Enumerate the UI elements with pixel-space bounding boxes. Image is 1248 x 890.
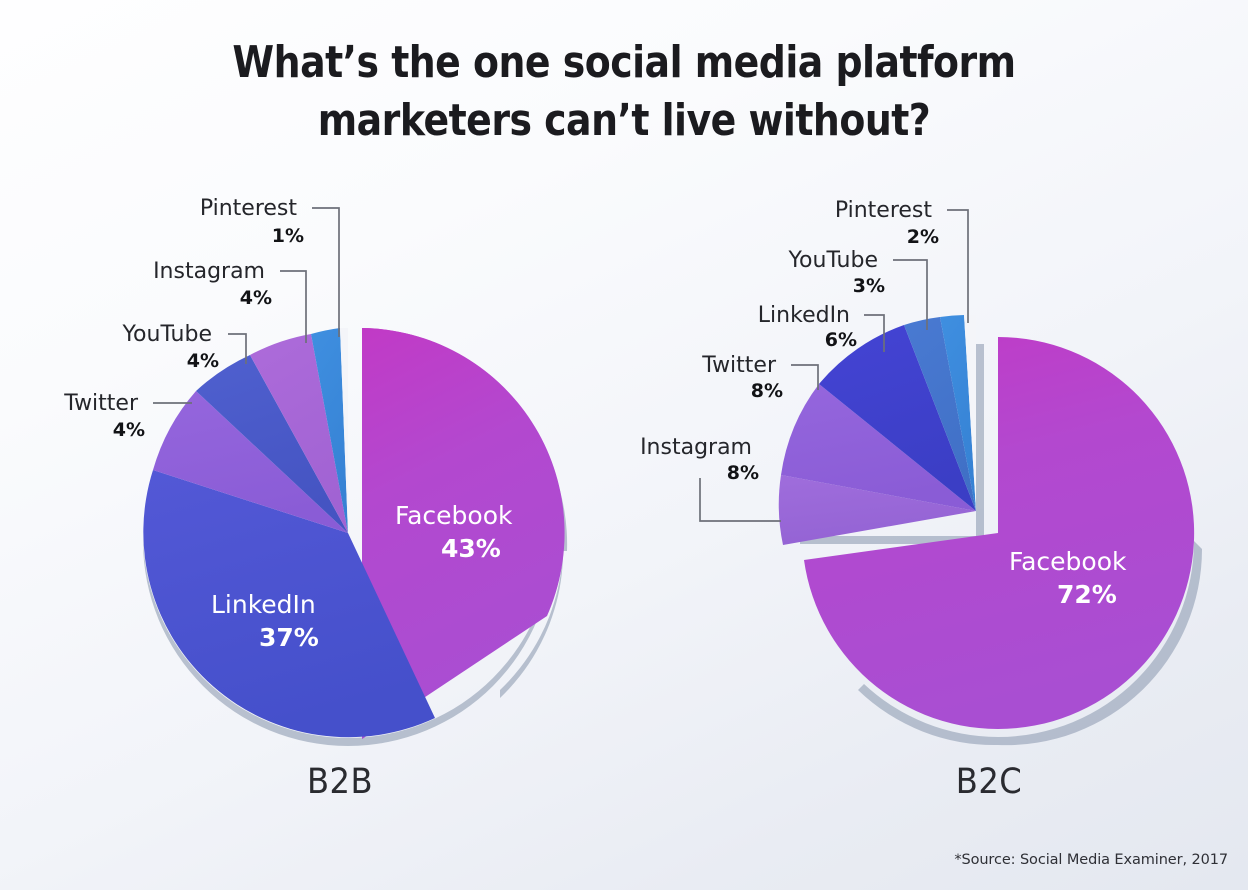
b2c-inner-label-facebook-name: Facebook [1009, 547, 1127, 576]
b2c-slice-gap [964, 315, 976, 511]
b2c-callout-youtube: YouTube 3% [788, 248, 927, 330]
b2b-slice-twitter[interactable] [153, 391, 348, 533]
b2c-callout-linkedin-name: LinkedIn [758, 303, 850, 328]
b2b-pie-shadow [143, 333, 567, 748]
panel-caption-b2c: B2C [894, 762, 1084, 802]
b2c-callout-youtube-pct: 3% [853, 275, 885, 297]
b2b-callout-twitter: Twitter 4% [63, 391, 192, 441]
b2c-leader-twitter [791, 365, 818, 390]
b2c-leader-instagram [700, 478, 781, 521]
b2b-callout-instagram-name: Instagram [153, 259, 265, 284]
b2c-callout-twitter-pct: 8% [751, 380, 783, 402]
b2b-slice-facebook[interactable] [362, 328, 565, 739]
b2c-callout-instagram: Instagram 8% [640, 435, 781, 521]
b2c-slice-linkedin[interactable] [819, 325, 976, 511]
b2c-callout-youtube-name: YouTube [788, 248, 878, 273]
b2c-slice-youtube[interactable] [904, 317, 976, 511]
b2b-callout-youtube-pct: 4% [187, 350, 219, 372]
b2c-slice-facebook[interactable] [804, 337, 1194, 729]
b2c-inner-label-facebook-pct: 72% [1057, 580, 1117, 609]
b2b-leader-instagram [280, 271, 306, 343]
b2c-slice-instagram[interactable] [779, 475, 976, 545]
b2c-leader-pinterest [947, 210, 968, 323]
b2c-callout-instagram-pct: 8% [727, 462, 759, 484]
b2b-slice-gap [340, 328, 348, 533]
b2c-pie-shadow [800, 344, 1202, 745]
b2b-callout-instagram: Instagram 4% [153, 259, 306, 343]
b2b-callout-youtube-name: YouTube [122, 322, 212, 347]
b2c-callout-instagram-name: Instagram [640, 435, 752, 460]
b2c-slice-twitter[interactable] [781, 384, 976, 511]
b2b-callout-pinterest-name: Pinterest [200, 196, 298, 221]
infographic-canvas: What’s the one social media platform mar… [0, 0, 1248, 890]
b2c-pie: Facebook 72% Pinterest 2% YouTube 3% Lin… [640, 198, 1202, 745]
b2b-inner-label-facebook-pct: 43% [441, 534, 501, 563]
page-title: What’s the one social media platform mar… [87, 34, 1160, 150]
b2b-pie: Facebook 43% LinkedIn 37% Pinterest 1% I… [63, 196, 567, 748]
b2c-callout-twitter: Twitter 8% [701, 353, 818, 402]
b2b-slice-instagram[interactable] [250, 334, 348, 533]
b2c-callout-linkedin: LinkedIn 6% [758, 303, 884, 352]
b2b-callout-instagram-pct: 4% [240, 287, 272, 309]
b2c-callout-pinterest: Pinterest 2% [835, 198, 968, 323]
b2b-leader-youtube [228, 334, 246, 364]
b2b-callout-pinterest-pct: 1% [272, 225, 304, 247]
b2b-callout-twitter-pct: 4% [113, 419, 145, 441]
panel-caption-b2b: B2B [245, 762, 435, 802]
b2c-leader-linkedin [864, 315, 884, 352]
b2c-callout-twitter-name: Twitter [701, 353, 777, 378]
b2c-leader-youtube [893, 260, 927, 330]
b2b-inner-label-facebook-name: Facebook [395, 501, 513, 530]
b2c-callout-linkedin-pct: 6% [825, 329, 857, 351]
b2c-callout-pinterest-name: Pinterest [835, 198, 933, 223]
b2c-exploded-group [779, 315, 976, 545]
b2c-callout-pinterest-pct: 2% [907, 226, 939, 248]
b2b-callout-pinterest: Pinterest 1% [200, 196, 339, 337]
source-note: *Source: Social Media Examiner, 2017 [0, 852, 1228, 868]
b2b-slice-linkedin[interactable] [143, 470, 435, 737]
b2b-slice-youtube[interactable] [196, 355, 348, 533]
b2c-slice-pinterest[interactable] [940, 315, 976, 511]
b2b-inner-label-linkedin-pct: 37% [259, 623, 319, 652]
b2b-leader-pinterest [312, 208, 339, 337]
b2b-inner-label-linkedin-name: LinkedIn [211, 590, 316, 619]
b2b-slice-pinterest[interactable] [311, 328, 348, 533]
b2b-callout-twitter-name: Twitter [63, 391, 139, 416]
b2b-callout-youtube: YouTube 4% [122, 322, 246, 372]
